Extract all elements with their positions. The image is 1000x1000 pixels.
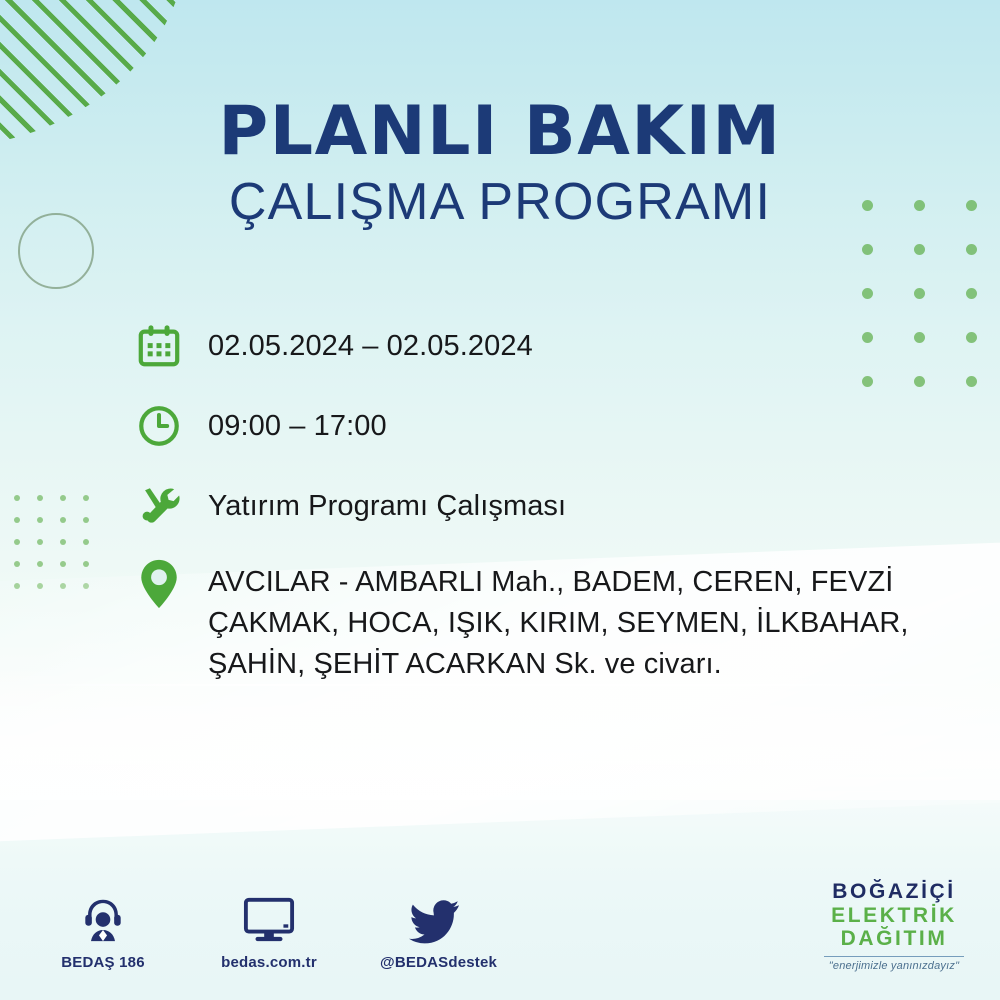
work-type-text: Yatırım Programı Çalışması — [208, 478, 566, 526]
bedas-logo: BOĞAZİÇİ ELEKTRİK DAĞITIM "enerjimizle y… — [810, 880, 978, 972]
time-range-text: 09:00 – 17:00 — [208, 398, 387, 446]
tools-icon — [136, 478, 208, 534]
monitor-icon — [214, 893, 324, 945]
poster-canvas: PLANLI BAKIM ÇALIŞMA PROGRAMI 02.05.2024… — [0, 0, 1000, 1000]
contact-website-label: bedas.com.tr — [214, 954, 324, 971]
contact-phone-label: BEDAŞ 186 — [48, 954, 158, 971]
logo-tagline: "enerjimizle yanınızdayız" — [810, 960, 978, 972]
contact-twitter[interactable]: @BEDASdestek — [380, 893, 490, 971]
dot-grid-left-decoration — [14, 495, 106, 605]
title-subtitle: ÇALIŞMA PROGRAMI — [0, 176, 1000, 228]
headset-icon — [48, 893, 158, 945]
logo-line-dagitim: DAĞITIM — [810, 927, 978, 951]
calendar-icon — [136, 318, 208, 374]
contact-twitter-label: @BEDASdestek — [380, 954, 490, 971]
clock-icon — [136, 398, 208, 454]
logo-divider — [824, 956, 964, 957]
logo-line-elektrik: ELEKTRİK — [810, 904, 978, 928]
map-pin-icon — [136, 558, 208, 610]
info-row-address: AVCILAR - AMBARLI Mah., BADEM, CEREN, FE… — [136, 558, 966, 686]
logo-line-bogazici: BOĞAZİÇİ — [810, 880, 978, 904]
twitter-bird-icon — [380, 893, 490, 945]
page-title: PLANLI BAKIM ÇALIŞMA PROGRAMI — [0, 98, 1000, 228]
info-row-date: 02.05.2024 – 02.05.2024 — [136, 318, 966, 374]
date-range-text: 02.05.2024 – 02.05.2024 — [208, 318, 533, 366]
info-row-time: 09:00 – 17:00 — [136, 398, 966, 454]
contact-list: BEDAŞ 186 bedas.com.tr @BEDASdestek — [48, 893, 490, 971]
info-list: 02.05.2024 – 02.05.2024 09:00 – 17:00 — [136, 318, 966, 686]
info-row-work-type: Yatırım Programı Çalışması — [136, 478, 966, 534]
title-main: PLANLI BAKIM — [0, 98, 1000, 166]
address-text: AVCILAR - AMBARLI Mah., BADEM, CEREN, FE… — [208, 558, 948, 686]
contact-website[interactable]: bedas.com.tr — [214, 893, 324, 971]
contact-phone[interactable]: BEDAŞ 186 — [48, 893, 158, 971]
